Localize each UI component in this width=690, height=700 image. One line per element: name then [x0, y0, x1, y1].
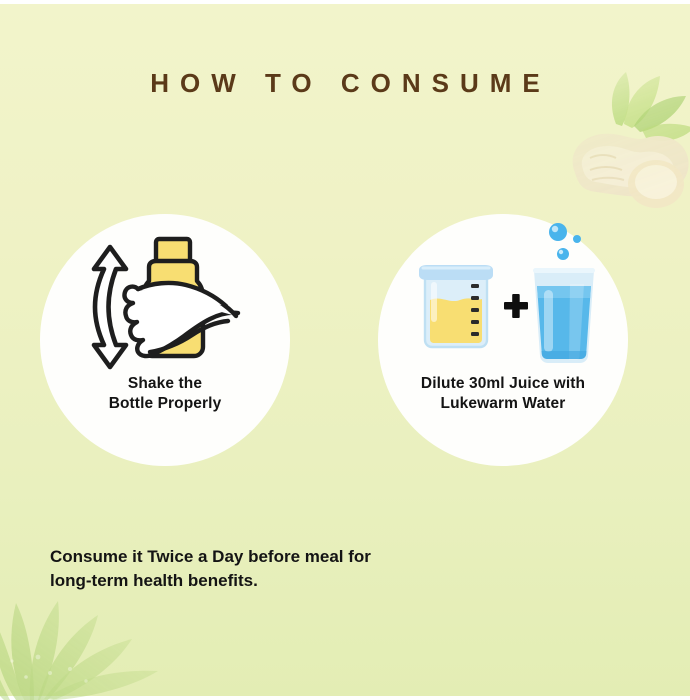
step-2-caption-line-2: Lukewarm Water	[421, 394, 585, 414]
step-1-caption-line-1: Shake the	[109, 374, 222, 394]
water-glass-icon	[533, 223, 595, 363]
hand-shaking-bottle-icon	[80, 223, 250, 373]
step-2-artwork	[378, 214, 628, 374]
footer-text-line-2: long-term health benefits.	[50, 571, 258, 590]
step-2-caption: Dilute 30ml Juice with Lukewarm Water	[421, 374, 585, 415]
step-1-artwork	[40, 214, 290, 374]
juice-beaker-icon	[419, 265, 493, 347]
footer-text-before: Consume it	[50, 547, 147, 566]
how-to-consume-banner: HOW TO CONSUME Shak	[0, 0, 690, 700]
step-card-shake-bottle: Shake the Bottle Properly	[40, 214, 290, 466]
step-card-dilute-juice: Dilute 30ml Juice with Lukewarm Water	[378, 214, 628, 466]
footer-note: Consume it Twice a Day before meal for l…	[50, 545, 570, 593]
step-1-caption: Shake the Bottle Properly	[109, 374, 222, 415]
footer-text-after: before meal for	[243, 547, 371, 566]
step-2-caption-line-1: Dilute 30ml Juice with	[421, 374, 585, 394]
beaker-plus-water-glass-icon	[403, 218, 603, 378]
page-title: HOW TO CONSUME	[0, 68, 690, 99]
step-1-caption-line-2: Bottle Properly	[109, 394, 222, 414]
plus-icon	[504, 294, 528, 318]
footer-text-emphasis: Twice a Day	[147, 547, 243, 566]
